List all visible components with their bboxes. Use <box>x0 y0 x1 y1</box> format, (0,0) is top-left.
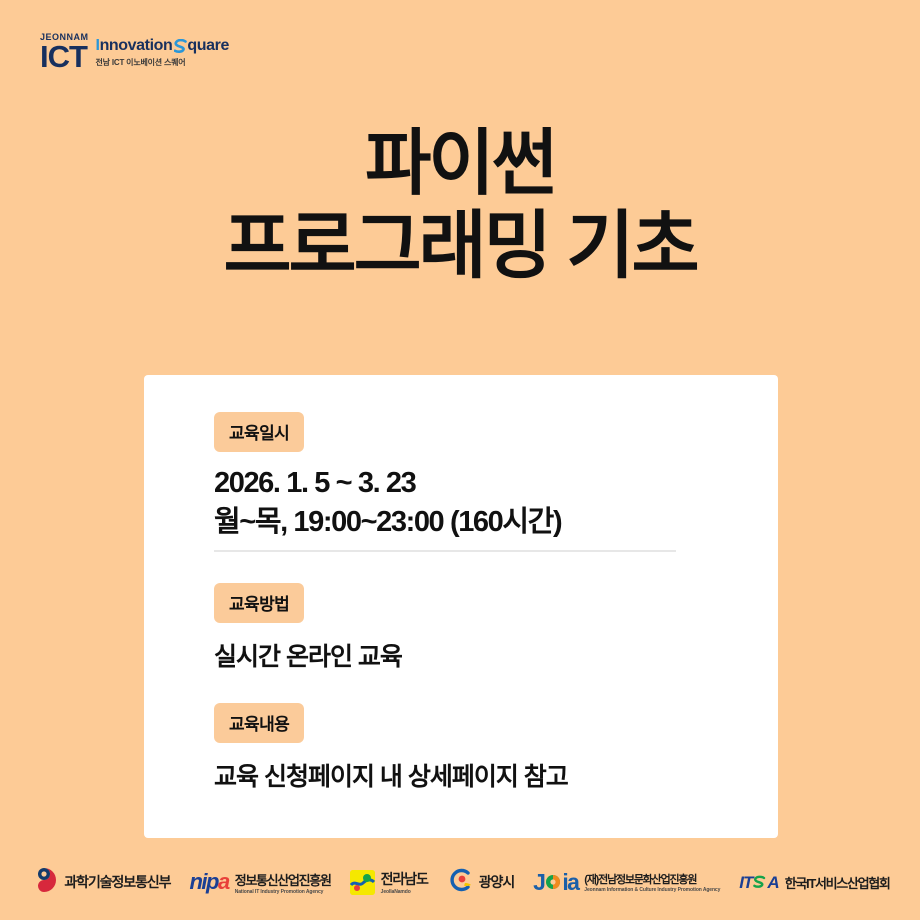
method-value: 실시간 온라인 교육 <box>214 637 402 673</box>
gwangyang-c-icon <box>447 867 473 898</box>
logo-nipa-wordmark: nipa <box>189 871 228 893</box>
s-swoosh-icon <box>174 39 187 54</box>
badge-schedule: 교육일시 <box>214 412 304 452</box>
ict-mark: JEONNAM ICT <box>40 33 89 71</box>
info-card: 교육일시 2026. 1. 5 ~ 3. 23 월~목, 19:00~23:00… <box>144 375 778 838</box>
card-divider <box>214 550 676 552</box>
section-method: 교육방법 실시간 온라인 교육 <box>214 583 402 673</box>
logo-jcia-sublabel: Jeonnam Information & Culture Industry P… <box>584 887 720 893</box>
section-schedule: 교육일시 2026. 1. 5 ~ 3. 23 월~목, 19:00~23:00… <box>214 412 561 542</box>
badge-content: 교육내용 <box>214 703 304 743</box>
logo-nipa-label: 정보통신산업진흥원 <box>235 870 331 889</box>
logo-nipa-sublabel: National IT Industry Promotion Agency <box>235 889 331 895</box>
page-title: 파이썬 프로그래밍 기초 <box>0 124 920 288</box>
logo-gwangyang: 광양시 <box>447 867 514 898</box>
schedule-value: 2026. 1. 5 ~ 3. 23 월~목, 19:00~23:00 (160… <box>214 464 561 542</box>
page-title-line1: 파이썬 <box>365 124 555 204</box>
logo-jeollanamdo-label: 전라남도 <box>381 869 428 889</box>
logo-jcia-wordmark: Jia <box>533 871 578 894</box>
logo-nipa: nipa 정보통신산업진흥원 National IT Industry Prom… <box>189 870 330 895</box>
brand-ict-label: ICT <box>40 43 87 71</box>
page-title-line2: 프로그래밍 기초 <box>0 205 920 288</box>
jeollanamdo-emblem-icon <box>350 870 375 895</box>
brand-innovation-square: Innovation quare 전남 ICT 이노베이션 스퀘어 <box>96 38 229 71</box>
schedule-line-2: 월~목, 19:00~23:00 (160시간) <box>214 503 561 542</box>
logo-gwangyang-label: 광양시 <box>479 872 514 892</box>
schedule-line-1: 2026. 1. 5 ~ 3. 23 <box>214 464 561 503</box>
logo-itsa: ITA 한국IT서비스산업협회 <box>739 873 889 892</box>
brand-logo: JEONNAM ICT Innovation quare 전남 ICT 이노베이… <box>40 33 229 71</box>
badge-method: 교육방법 <box>214 583 304 623</box>
logo-jcia-label: (재)전남정보문화산업진흥원 <box>584 871 720 887</box>
brand-subtitle: 전남 ICT 이노베이션 스퀘어 <box>96 57 229 68</box>
section-content: 교육내용 교육 신청페이지 내 상세페이지 참고 <box>214 703 568 793</box>
logo-jeollanamdo-sublabel: JeollaNamdo <box>381 889 428 895</box>
brand-square-rest: quare <box>187 38 229 54</box>
brand-innovation-square-label: Innovation quare <box>96 38 229 54</box>
brand-innovation-rest: nnovation <box>100 38 173 54</box>
logo-jeollanamdo: 전라남도 JeollaNamdo <box>350 869 428 895</box>
logo-itsa-wordmark: ITA <box>739 874 778 891</box>
logo-msit-label: 과학기술정보통신부 <box>64 872 170 892</box>
footer-logo-bar: 과학기술정보통신부 nipa 정보통신산업진흥원 National IT Ind… <box>0 858 920 906</box>
logo-jcia: Jia (재)전남정보문화산업진흥원 Jeonnam Information &… <box>533 871 720 894</box>
taegeuk-icon <box>30 866 58 899</box>
logo-itsa-label: 한국IT서비스산업협회 <box>785 873 890 892</box>
content-value: 교육 신청페이지 내 상세페이지 참고 <box>214 757 568 793</box>
logo-msit: 과학기술정보통신부 <box>30 866 170 899</box>
